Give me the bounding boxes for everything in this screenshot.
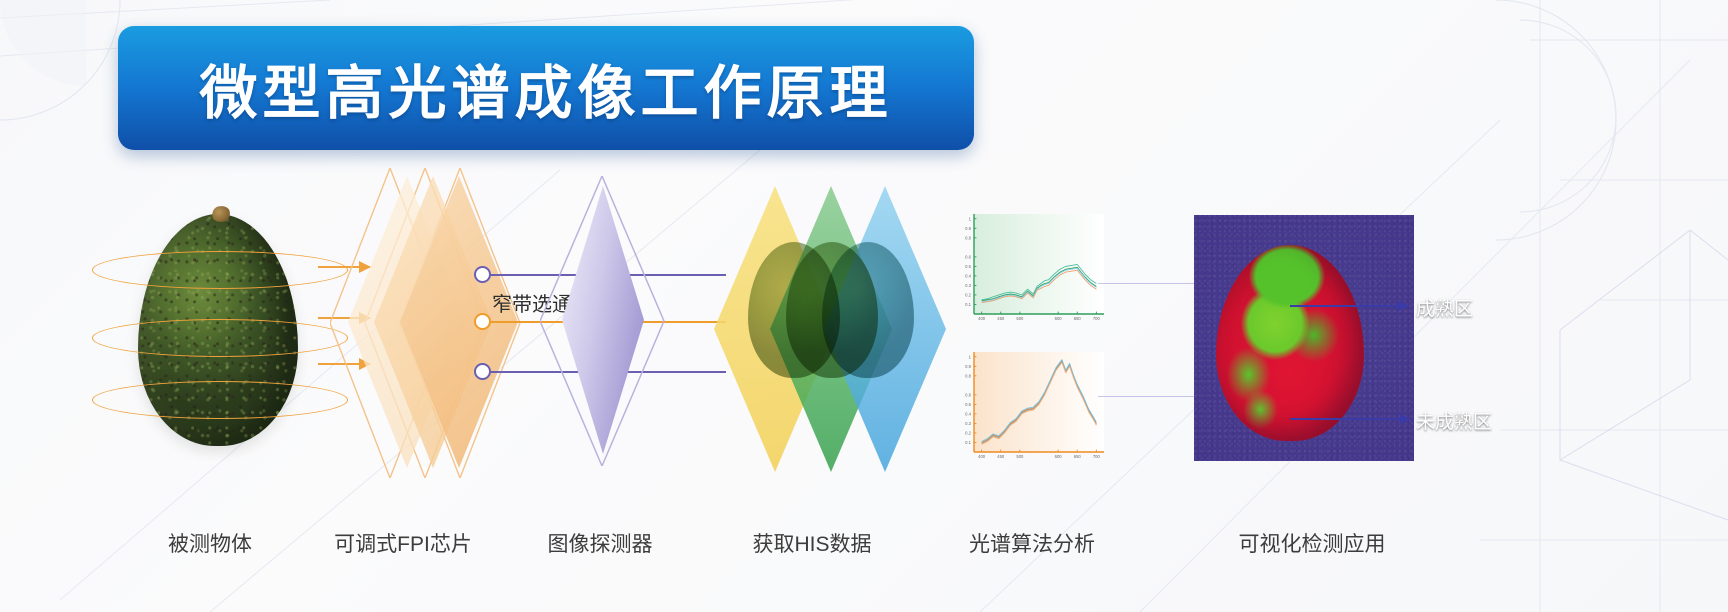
svg-text:500: 500 [1016,454,1024,459]
narrow-band-node-3[interactable] [474,363,491,380]
svg-text:0.4: 0.4 [965,274,971,279]
svg-text:0.5: 0.5 [965,402,971,407]
stage-label-detector: 图像探测器 [548,528,653,558]
svg-text:0.2: 0.2 [965,293,971,298]
spectral-chart-bottom: 0.10.20.30.40.50.60.80.91 40045050060065… [948,346,1108,471]
svg-text:600: 600 [1055,316,1063,321]
title-banner: 微型高光谱成像工作原理 [118,26,974,150]
svg-text:0.1: 0.1 [965,302,971,307]
stage-label-his-data: 获取HIS数据 [752,528,871,558]
sample-object-avocado [128,196,308,451]
stage-label-spectral: 光谱算法分析 [969,528,1095,558]
svg-text:700: 700 [1093,316,1101,321]
svg-text:500: 500 [1016,316,1024,321]
svg-text:0.3: 0.3 [965,421,971,426]
svg-text:0.5: 0.5 [965,264,971,269]
annotation-arrow-ripe [1290,305,1408,307]
svg-text:0.2: 0.2 [965,431,971,436]
svg-text:1: 1 [969,354,972,359]
svg-text:0.6: 0.6 [965,254,971,259]
svg-text:0.8: 0.8 [965,373,971,378]
spectral-chart-bottom-svg: 0.10.20.30.40.50.60.80.91 40045050060065… [948,346,1108,471]
light-beam-arrow-1 [318,266,370,268]
detection-result-image [1194,215,1414,461]
scan-ring-top [92,251,348,289]
scan-ring-bottom [92,381,348,419]
svg-text:650: 650 [1074,316,1082,321]
svg-text:0.3: 0.3 [965,283,971,288]
chart-to-image-connector-bottom [1098,396,1198,397]
stage-label-object: 被测物体 [168,528,252,558]
narrow-band-node-2[interactable] [474,313,491,330]
svg-text:700: 700 [1093,454,1101,459]
chart-to-image-connector-top [1098,283,1198,284]
svg-text:0.8: 0.8 [965,235,971,240]
svg-text:0.4: 0.4 [965,412,971,417]
svg-text:0.9: 0.9 [965,364,971,369]
light-beam-arrow-3 [318,363,370,365]
svg-text:1: 1 [969,216,972,221]
svg-text:600: 600 [1055,454,1063,459]
scan-ring-middle [92,319,348,357]
spectral-chart-top-svg: 0.10.20.30.40.50.60.80.91 40045050060065… [948,208,1108,333]
spectral-chart-top: 0.10.20.30.40.50.60.80.91 40045050060065… [948,208,1108,333]
svg-text:450: 450 [997,454,1005,459]
detection-label-ripe: 成熟区 [1416,294,1473,321]
detection-label-unripe: 未成熟区 [1416,407,1492,434]
svg-text:650: 650 [1074,454,1082,459]
stage-label-fpi-chip: 可调式FPI芯片 [334,528,472,558]
svg-text:0.1: 0.1 [965,440,971,445]
slide-canvas: 微型高光谱成像工作原理 窄带选通 [0,0,1728,612]
svg-text:400: 400 [978,454,986,459]
narrow-band-label: 窄带选通 [492,288,572,317]
narrow-band-node-1[interactable] [474,266,491,283]
svg-text:0.6: 0.6 [965,392,971,397]
svg-text:0.9: 0.9 [965,226,971,231]
svg-text:400: 400 [978,316,986,321]
annotation-arrow-unripe [1290,418,1410,420]
stage-label-visualization: 可视化检测应用 [1239,528,1386,558]
page-title: 微型高光谱成像工作原理 [199,46,892,130]
svg-text:450: 450 [997,316,1005,321]
